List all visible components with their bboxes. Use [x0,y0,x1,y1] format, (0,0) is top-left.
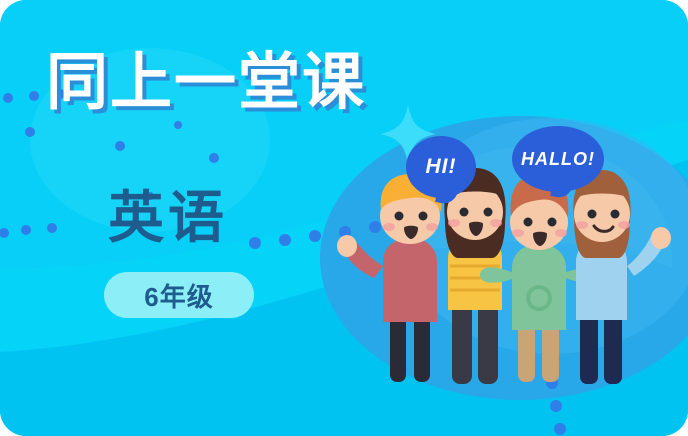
course-cover-card: HI! HALLO! 同上一堂课 英语 6年级 [0,0,688,436]
grade-badge: 6年级 [104,272,254,318]
character-boy-waving [337,174,441,382]
speech-bubble-hi-text: HI! [426,155,457,179]
speech-bubble-hi: HI! [406,136,476,198]
page-title: 同上一堂课 [46,52,366,114]
grade-badge-label: 6年级 [144,277,213,314]
speech-bubble-hallo-text: HALLO! [521,149,595,170]
character-girl-blue [573,170,671,384]
subject-title: 英语 [108,190,228,246]
speech-bubble-hallo: HALLO! [512,126,604,192]
